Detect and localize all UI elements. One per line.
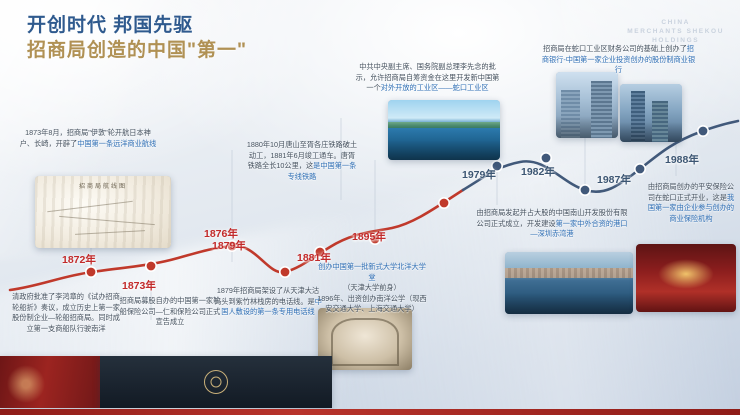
entry-1895-part-b: （天津大学前身）	[343, 283, 401, 292]
beiyang-university-historic-photo[interactable]	[318, 308, 412, 370]
entry-text-1872: 清政府批准了李鸿章的《试办招商轮船折》奏议，成立历史上第一家股份制企业—轮船招商…	[12, 292, 120, 334]
entry-text-1979: 中共中央副主席、国务院副总理李先念的批示，允许招商局自筹资金在这里开发新中国第一…	[355, 62, 500, 94]
entry-text-1982: 由招商局发起并占大股的中国南山开发股份有限公司正式成立，开发建设第一家中外合资的…	[473, 208, 631, 240]
timeline-year-1979[interactable]: 1979年	[462, 167, 496, 182]
title-line-1: 开创时代 邦国先驱	[27, 14, 247, 38]
red-ceremony-hall-photo[interactable]	[636, 244, 736, 312]
pingan-insurance-towers-photo[interactable]	[620, 84, 682, 142]
chiwan-harbour-photo[interactable]	[505, 252, 633, 314]
entry-1987-part-a: 招商局在蛇口工业区财务公司的基础上创办了	[543, 44, 687, 53]
page-title: 开创时代 邦国先驱 招商局创造的中国"第一"	[27, 14, 247, 64]
entry-text-1876: 招商局募股自办的中国第一家轮船保险公司—仁和保险公司正式宣告成立	[118, 296, 222, 328]
entry-1988-part-a: 由招商局创办的平安保险公司在蛇口正式开业，这是	[648, 182, 734, 202]
timeline-year-1895[interactable]: 1895年	[352, 229, 386, 244]
entry-text-1895: 创办中国第一批新式大学北洋大学堂 （天津大学前身） 1896年、出资创办南洋公学…	[316, 262, 428, 315]
timeline-year-1881[interactable]: 1881年	[297, 250, 331, 265]
brand-logo: CHINA MERCHANTS SHEKOU HOLDINGS	[627, 18, 724, 45]
brand-line-3: HOLDINGS	[627, 36, 724, 45]
entry-text-1879: 1879年招商局架设了从天津大沽码头到紫竹林栈房的电话线。是中国人敷设的第一条专…	[214, 286, 322, 318]
entry-text-1987: 招商局在蛇口工业区财务公司的基础上创办了招商银行-中国第一家企业投资创办的股份制…	[541, 44, 696, 76]
shekou-industrial-zone-photo[interactable]	[388, 100, 500, 160]
entry-1895-part-a: 创办中国第一批新式大学北洋大学堂	[318, 262, 426, 282]
bottom-accent-band	[0, 409, 740, 415]
entry-text-1881: 1880年10月唐山至胥各庄铁路破土动工，1881年6月竣工通车。唐胥铁路全长1…	[246, 140, 358, 182]
entry-1879-part-a: 1879年招商局架设了从天津大沽码头到紫竹林栈房的电话线。是	[214, 286, 319, 306]
brand-line-2: MERCHANTS SHEKOU	[627, 27, 724, 36]
entry-1895-part-c: 1896年、出资创办南洋公学（现西安交通大学、上海交通大学）	[317, 294, 426, 314]
brand-line-1: CHINA	[627, 18, 724, 27]
china-merchants-bank-building-photo[interactable]	[556, 72, 618, 138]
timeline-year-1879[interactable]: 1879年	[212, 238, 246, 253]
entry-1873-part-b: 中国第一条远洋商业航线	[77, 139, 156, 148]
timeline-year-1872[interactable]: 1872年	[62, 252, 96, 267]
timeline-year-1982[interactable]: 1982年	[521, 164, 555, 179]
dark-emblem-strip-photo[interactable]	[100, 356, 332, 408]
infographic-canvas: 开创时代 邦国先驱 招商局创造的中国"第一" CHINA MERCHANTS S…	[0, 0, 740, 415]
timeline-year-1873[interactable]: 1873年	[122, 278, 156, 293]
entry-1979-part-b: 对外开放的工业区——蛇口工业区	[381, 83, 489, 92]
entry-text-1873: 1873年8月，招商局"伊敦"轮开航日本神户、长崎，开辟了中国第一条远洋商业航线	[18, 128, 158, 149]
old-shipping-route-map-photo[interactable]: 招商局航线图	[35, 176, 171, 248]
title-line-2: 招商局创造的中国"第一"	[27, 38, 247, 64]
timeline-year-1987[interactable]: 1987年	[597, 172, 631, 187]
timeline-year-1988[interactable]: 1988年	[665, 152, 699, 167]
company-emblem-icon	[204, 370, 228, 394]
red-banner-photo[interactable]	[0, 356, 100, 408]
entry-text-1988: 由招商局创办的平安保险公司在蛇口正式开业，这是我国第一家由企业参与创办的商业保险…	[645, 182, 737, 224]
map-caption: 招商局航线图	[35, 181, 171, 190]
